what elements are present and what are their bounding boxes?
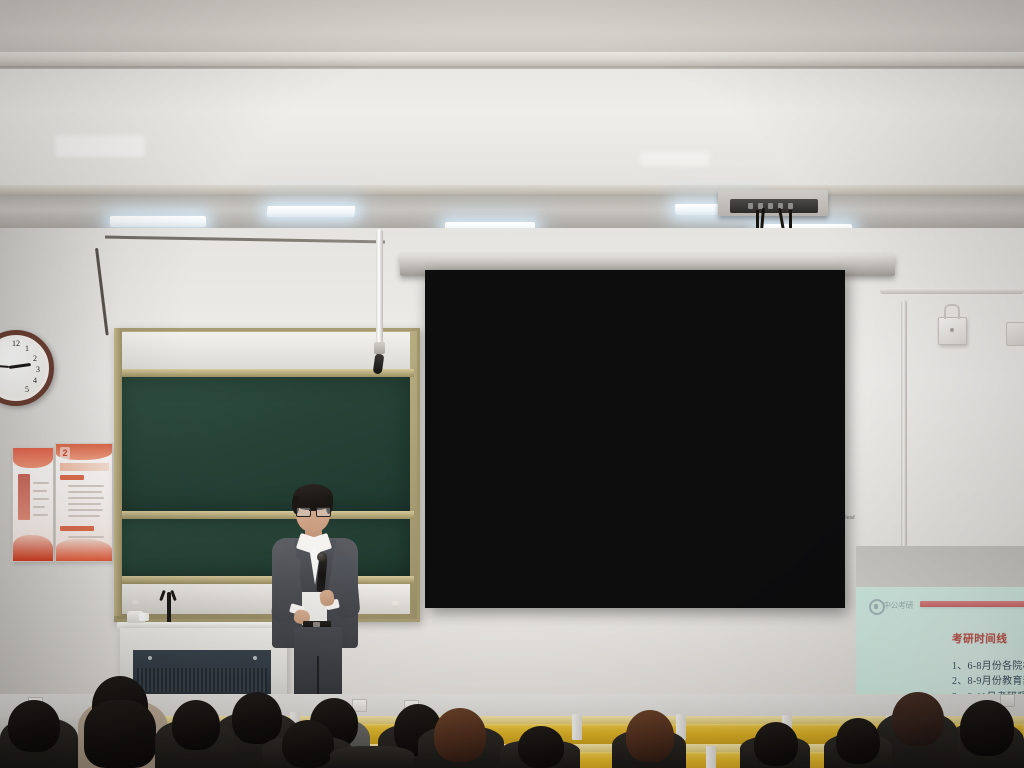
poster-text-line [68, 497, 104, 499]
audience-member-head [892, 692, 944, 746]
audience-member-head [960, 700, 1014, 756]
blackboard-left-post [114, 328, 122, 616]
screen-letterbox-top [856, 546, 1024, 587]
poster-text-line [68, 515, 100, 517]
poster-header-wave [13, 448, 53, 468]
audience-member-head [282, 720, 334, 768]
chalk-piece [392, 601, 399, 605]
projector-vent [748, 203, 753, 209]
audience-member-hair [84, 700, 156, 768]
clock-numeral: 4 [33, 376, 37, 385]
blackboard-rail [114, 369, 414, 377]
audience-member-head [626, 710, 674, 762]
eyeglass-lens [296, 507, 311, 517]
poster-footer-wave [13, 535, 53, 561]
poster-section-band [60, 475, 84, 480]
bench-post [572, 714, 582, 740]
audience-member-head [172, 700, 220, 750]
clock-numeral: 5 [25, 385, 29, 394]
fluorescent-light-icon [110, 216, 206, 227]
presenter [262, 478, 368, 713]
bench-post [706, 746, 716, 768]
wall-scuff-mark-2 [640, 152, 710, 166]
lectern-screw [253, 656, 257, 660]
podium-paper [139, 613, 149, 621]
poster-section-band [60, 526, 94, 531]
clock-numeral: 12 [12, 339, 20, 348]
poster-vertical-title [18, 474, 30, 520]
slide-accent-bar [920, 601, 1024, 607]
audience-member-head [754, 722, 798, 766]
projector-vent [788, 203, 793, 209]
audience-member-head [434, 708, 486, 762]
poster-text-line [33, 498, 49, 500]
fluorescent-light-icon [266, 206, 355, 217]
upper-wall [0, 69, 1024, 187]
poster-text-line [33, 490, 47, 492]
poster-text-line [33, 514, 48, 516]
projection-screen-frame: 中公考研 考研时间线 1、6-8月份各院校公布招生简章及专业目录 2、8-9月份… [425, 270, 845, 608]
eyeglass-lens [316, 507, 331, 517]
slide-logo: 中公考研 [869, 598, 913, 613]
microphone-capsule [317, 552, 327, 562]
accent-bar-red-segment [920, 601, 1024, 607]
podium-mic-stand [167, 592, 171, 624]
poster-text-line [68, 509, 103, 511]
wall-conduit-horizontal [880, 288, 1024, 294]
poster-title-band [60, 463, 109, 471]
poster-number-badge: 2 [60, 447, 70, 459]
blackboard-upper-whiteboard [118, 332, 410, 370]
slide-bullet-item: 1、6-8月份各院校公布招生简章及专业目录 [952, 659, 1024, 674]
clock-numeral: 2 [33, 354, 37, 363]
clock-numeral: 3 [36, 365, 40, 374]
audience-member-head [232, 692, 282, 744]
poster-text-line [68, 491, 102, 493]
lectern-screw [148, 656, 152, 660]
eyeglasses-icon [296, 507, 330, 515]
audience-member-head [518, 726, 564, 768]
poster-footer-wave [56, 539, 112, 561]
audience-member-body [330, 746, 414, 768]
wall-scuff-mark [55, 135, 145, 157]
wall-speaker-secondary [1006, 322, 1024, 346]
eyeglass-bridge [309, 510, 316, 511]
slide-logo-text: 中公考研 [883, 600, 913, 611]
wall-poster-right: 2 [55, 443, 113, 562]
audience-member-head [8, 700, 60, 752]
poster-text-line [68, 536, 104, 538]
ceiling [0, 0, 1024, 60]
poster-text-line [68, 485, 104, 487]
wall-poster-left [12, 447, 54, 562]
hanging-mic-joint [374, 342, 385, 354]
lecture-hall-photo: 12 1 2 3 4 5 2 [0, 0, 1024, 768]
projector-vent [768, 203, 773, 209]
audience-member-head [836, 718, 880, 764]
hanging-mic-pole [376, 229, 383, 349]
slide-title: 考研时间线 [952, 631, 1008, 646]
slide-bullet-item: 2、8-9月份教育部公布考研大纲 [952, 674, 1024, 689]
wall-speaker-dot [950, 328, 954, 332]
wall-speaker-bracket [944, 304, 960, 319]
poster-text-line [68, 503, 101, 505]
poster-text-line [33, 506, 45, 508]
chalk-piece [132, 600, 139, 604]
lectern-vent-grille [137, 668, 267, 692]
poster-text-line [33, 482, 49, 484]
clock-numeral: 1 [25, 344, 29, 353]
